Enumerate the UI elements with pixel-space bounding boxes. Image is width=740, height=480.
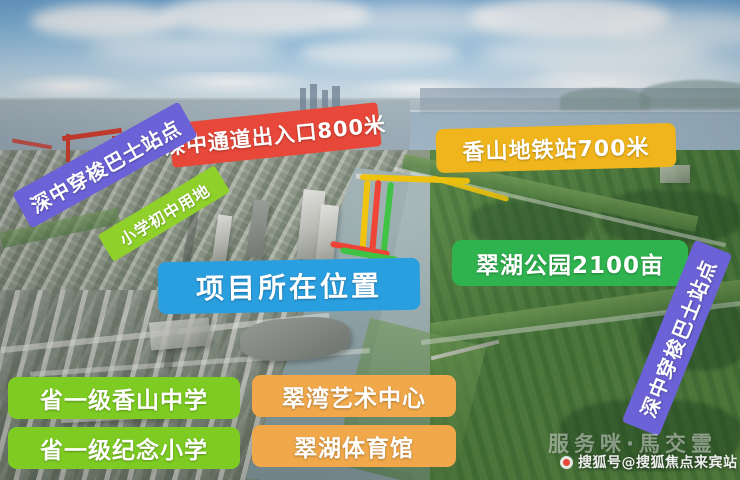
label-cuihu-park[interactable]: 翠湖公园2100亩 xyxy=(452,240,688,286)
label-text: 翠湖体育馆 xyxy=(294,429,414,463)
sohu-logo-icon xyxy=(560,456,573,469)
label-text: 翠湾艺术中心 xyxy=(282,379,426,413)
distant-hill xyxy=(560,88,650,110)
label-xiangshan-middle-school[interactable]: 省一级香山中学 xyxy=(8,377,240,419)
label-text: 香山地铁站700米 xyxy=(462,130,650,167)
building xyxy=(660,165,690,183)
label-project-location[interactable]: 项目所在位置 xyxy=(158,258,421,315)
label-text: 项目所在位置 xyxy=(196,264,383,307)
label-text: 翠湖公园2100亩 xyxy=(476,246,664,280)
watermark-sohu: 搜狐号@搜狐焦点来宾站 xyxy=(560,452,738,472)
label-text: 省一级纪念小学 xyxy=(40,431,208,465)
label-cuiwan-art-center[interactable]: 翠湾艺术中心 xyxy=(252,375,456,417)
building xyxy=(149,317,211,350)
label-text: 省一级香山中学 xyxy=(40,381,208,415)
distant-tower xyxy=(300,88,306,112)
aerial-promo-image: 深中通道出入口800米 香山地铁站700米 翠湖公园2100亩 项目所在位置 深… xyxy=(0,0,740,480)
label-cuihu-gymnasium[interactable]: 翠湖体育馆 xyxy=(252,425,456,467)
watermark-text: 搜狐号@搜狐焦点来宾站 xyxy=(578,452,738,472)
cloud xyxy=(30,4,180,38)
label-xiangshan-metro-station[interactable]: 香山地铁站700米 xyxy=(435,123,676,173)
cloud xyxy=(90,34,280,62)
label-memorial-primary-school[interactable]: 省一级纪念小学 xyxy=(8,427,240,469)
crane-mast xyxy=(66,134,70,162)
distant-hill xyxy=(640,80,740,108)
cloud xyxy=(300,40,460,66)
